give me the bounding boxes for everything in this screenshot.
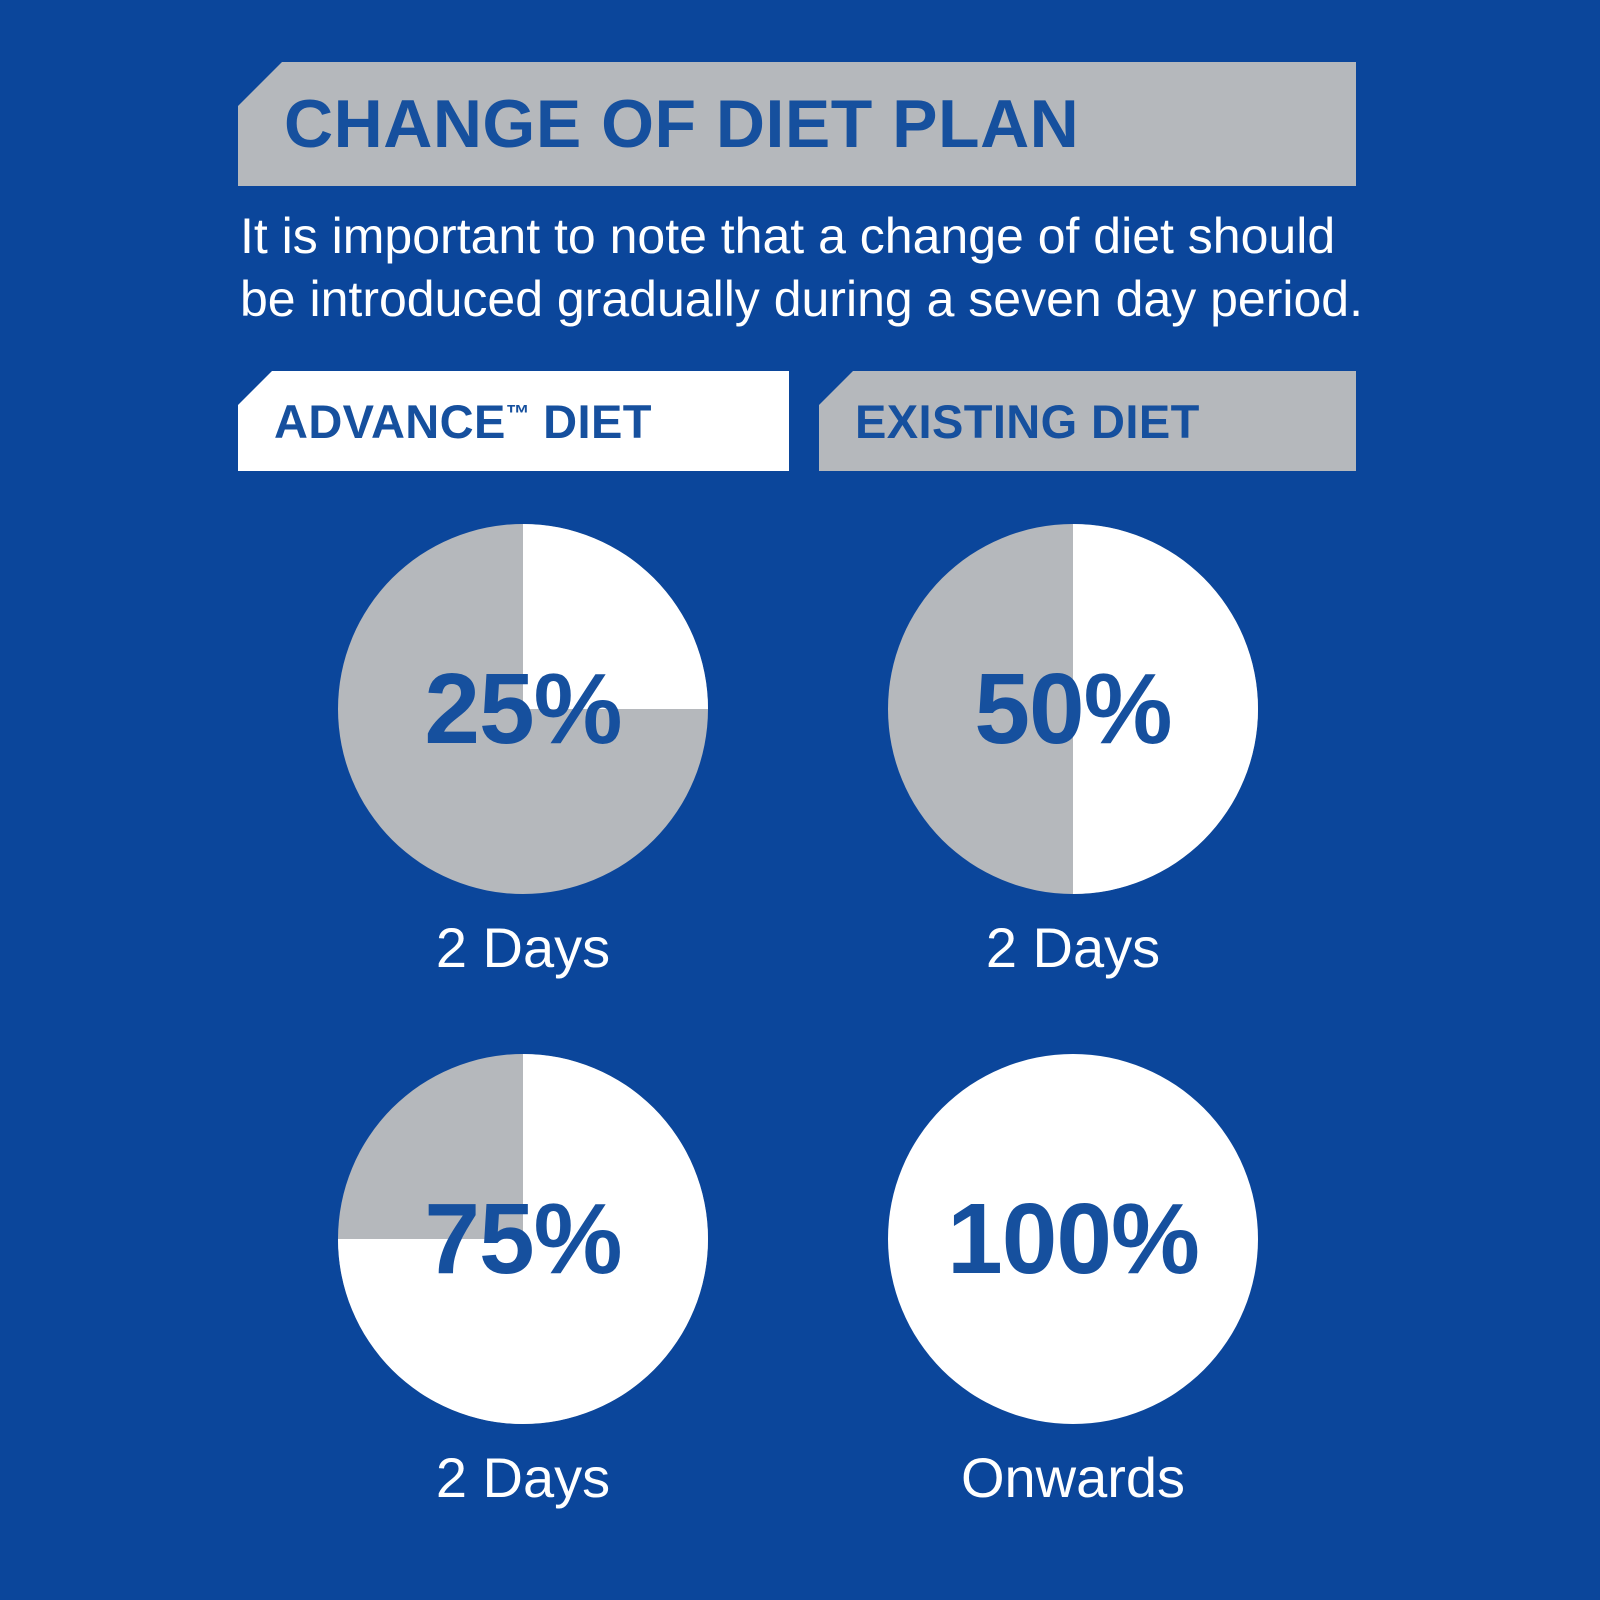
pie-chart-grid: 25% 2 Days 50% 2 Days 75% 2 Days 100% On… <box>0 0 1600 1600</box>
pie-chart-50: 50% <box>888 524 1258 894</box>
pie-caption: 2 Days <box>303 920 743 976</box>
pie-caption: Onwards <box>853 1450 1293 1506</box>
pie-chart-25: 25% <box>338 524 708 894</box>
infographic-page: CHANGE OF DIET PLAN It is important to n… <box>0 0 1600 1600</box>
pie-chart-100: 100% <box>888 1054 1258 1424</box>
pie-cell-advance-day1-2: 25% 2 Days <box>303 524 743 976</box>
pie-value-label: 100% <box>888 1054 1258 1424</box>
pie-value-label: 75% <box>338 1054 708 1424</box>
pie-cell-existing-day1-2: 50% 2 Days <box>853 524 1293 976</box>
pie-cell-advance-day5-6: 75% 2 Days <box>303 1054 743 1506</box>
pie-caption: 2 Days <box>853 920 1293 976</box>
pie-cell-existing-onwards: 100% Onwards <box>853 1054 1293 1506</box>
pie-chart-75: 75% <box>338 1054 708 1424</box>
pie-value-label: 50% <box>888 524 1258 894</box>
pie-value-label: 25% <box>338 524 708 894</box>
pie-caption: 2 Days <box>303 1450 743 1506</box>
